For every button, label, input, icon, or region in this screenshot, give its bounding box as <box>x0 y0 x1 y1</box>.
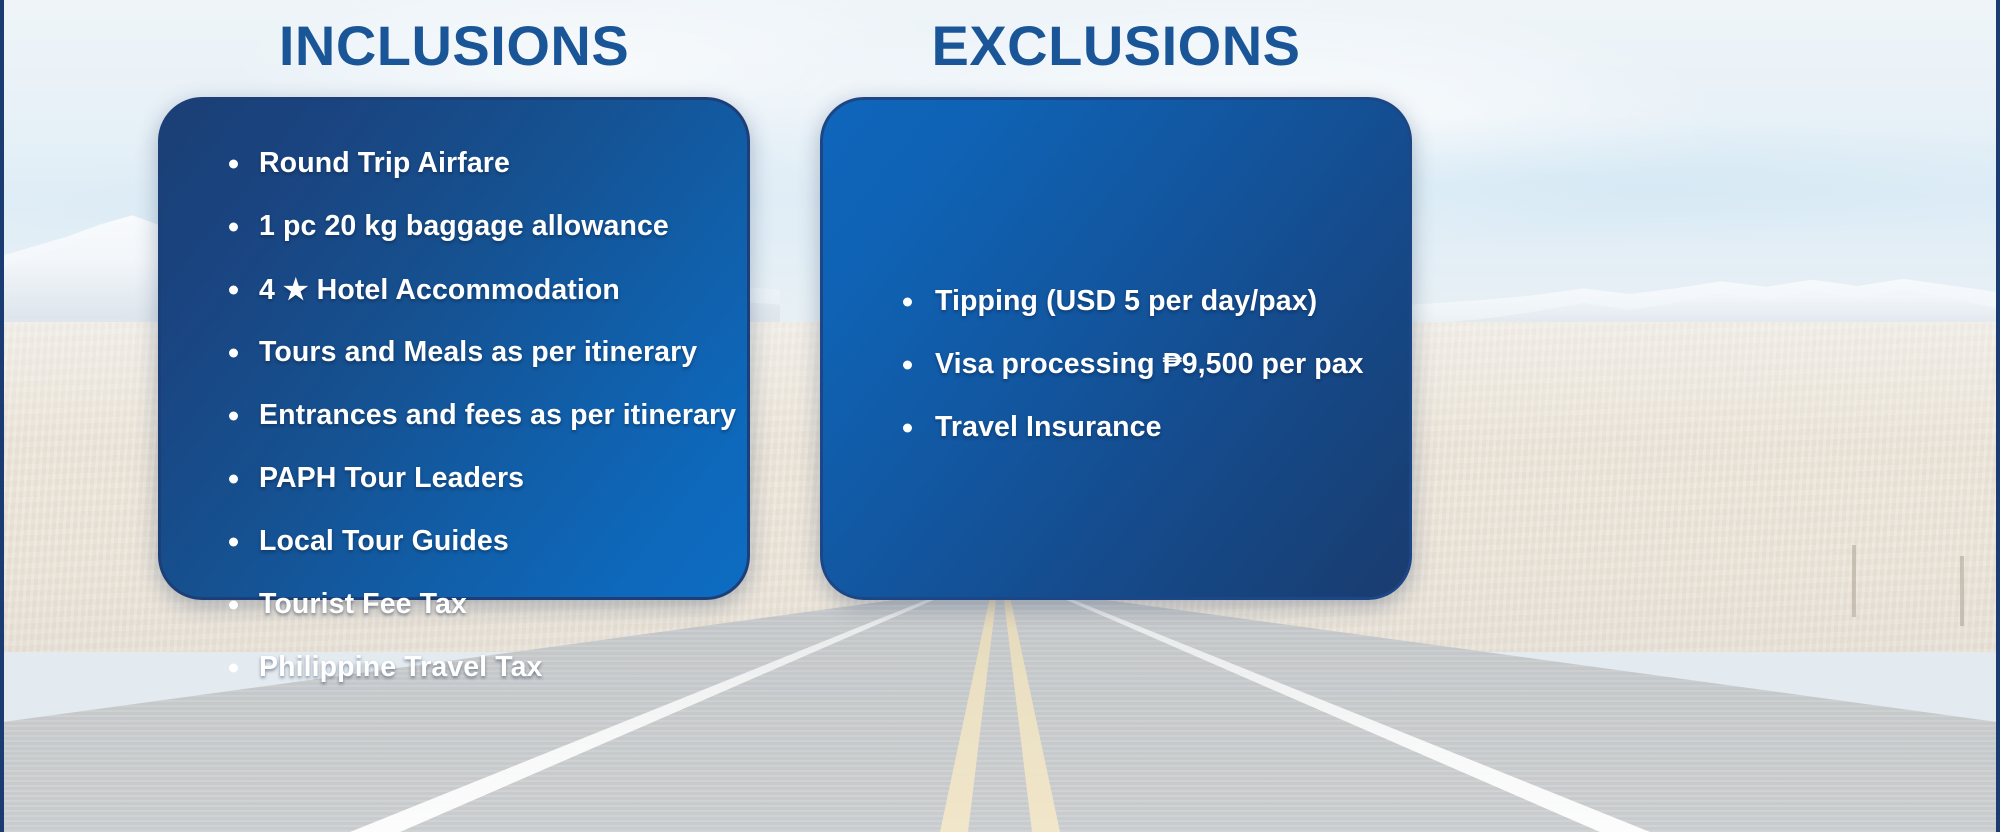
bullet-icon <box>229 600 238 609</box>
list-item: Entrances and fees as per itinerary <box>161 384 747 447</box>
bullet-icon <box>229 474 238 483</box>
inclusions-list: Round Trip Airfare 1 pc 20 kg baggage al… <box>161 132 747 699</box>
list-item: PAPH Tour Leaders <box>161 447 747 510</box>
list-item-label: PAPH Tour Leaders <box>259 462 524 495</box>
list-item-label: 1 pc 20 kg baggage allowance <box>259 210 669 243</box>
list-item: Philippine Travel Tax <box>161 636 747 699</box>
list-item-label: Local Tour Guides <box>259 525 509 558</box>
list-item-label: Travel Insurance <box>935 411 1162 444</box>
bullet-icon <box>229 222 238 231</box>
bullet-icon <box>229 285 238 294</box>
exclusions-card: Tipping (USD 5 per day/pax) Visa process… <box>820 97 1412 600</box>
list-item-label: Entrances and fees as per itinerary <box>259 399 736 432</box>
list-item-label: Visa processing ₱9,500 per pax <box>935 348 1364 381</box>
exclusions-list: Tipping (USD 5 per day/pax) Visa process… <box>823 270 1409 459</box>
list-item-label: Philippine Travel Tax <box>259 651 543 684</box>
bullet-icon <box>229 348 238 357</box>
list-item: 4 ★ Hotel Accommodation <box>161 258 747 321</box>
bullet-icon <box>903 297 912 306</box>
list-item: Travel Insurance <box>823 396 1409 459</box>
list-item: Tourist Fee Tax <box>161 573 747 636</box>
list-item-label: 4 ★ Hotel Accommodation <box>259 273 620 307</box>
inclusions-card: Round Trip Airfare 1 pc 20 kg baggage al… <box>158 97 750 600</box>
bullet-icon <box>229 159 238 168</box>
bullet-icon <box>229 663 238 672</box>
list-item-label: Tours and Meals as per itinerary <box>259 336 697 369</box>
exclusions-title: EXCLUSIONS <box>820 13 1412 78</box>
panels-layer: INCLUSIONS Round Trip Airfare 1 pc 20 kg… <box>0 0 2000 832</box>
list-item-label: Round Trip Airfare <box>259 147 510 180</box>
inclusions-title: INCLUSIONS <box>158 13 750 78</box>
bullet-icon <box>903 423 912 432</box>
list-item: Tipping (USD 5 per day/pax) <box>823 270 1409 333</box>
list-item: Tours and Meals as per itinerary <box>161 321 747 384</box>
bullet-icon <box>903 360 912 369</box>
list-item: 1 pc 20 kg baggage allowance <box>161 195 747 258</box>
list-item: Local Tour Guides <box>161 510 747 573</box>
bullet-icon <box>229 411 238 420</box>
bullet-icon <box>229 537 238 546</box>
list-item: Visa processing ₱9,500 per pax <box>823 333 1409 396</box>
list-item: Round Trip Airfare <box>161 132 747 195</box>
list-item-label: Tourist Fee Tax <box>259 588 467 621</box>
slide-canvas: INCLUSIONS Round Trip Airfare 1 pc 20 kg… <box>0 0 2000 832</box>
list-item-label: Tipping (USD 5 per day/pax) <box>935 285 1317 318</box>
